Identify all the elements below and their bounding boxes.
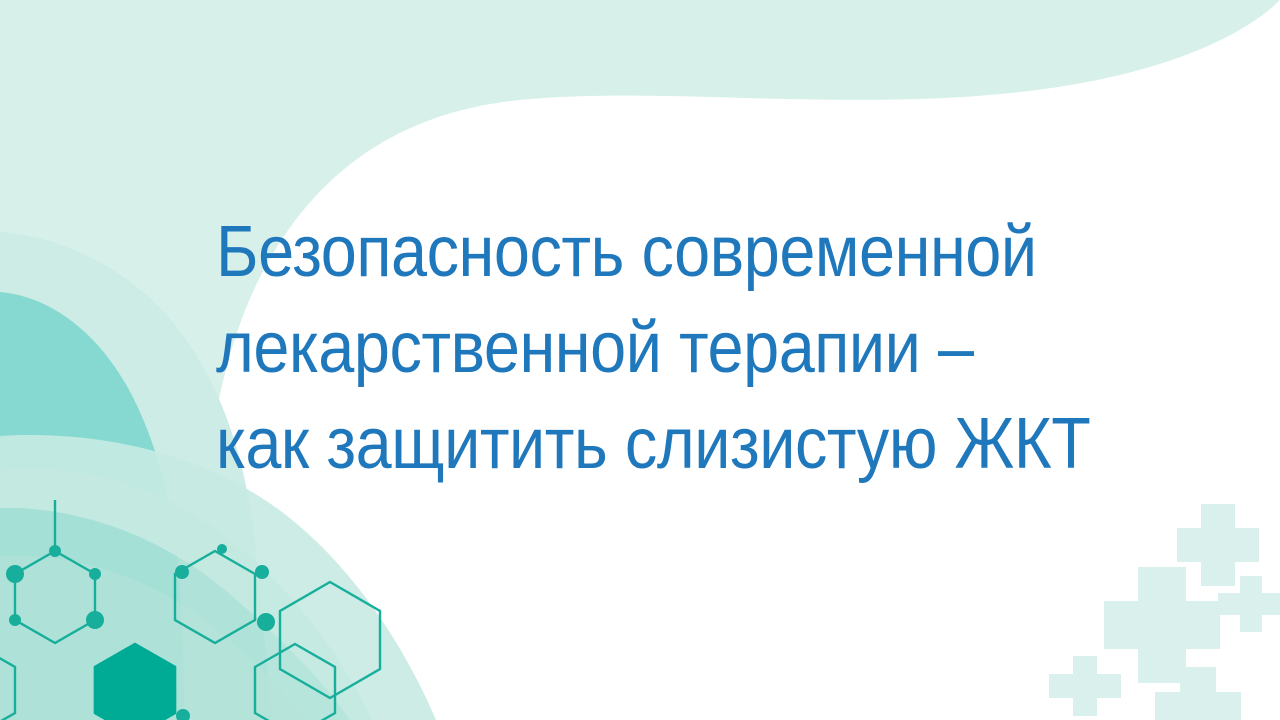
hex-node <box>175 565 189 579</box>
hex-node <box>9 614 21 626</box>
plus-icon <box>1177 504 1259 586</box>
title-line-1: Безопасность современной <box>216 204 1125 300</box>
hex-node <box>217 544 227 554</box>
hex-node <box>255 565 269 579</box>
slide-canvas: Безопасность современной лекарственной т… <box>0 0 1280 720</box>
hex-node <box>257 613 275 631</box>
cross-cluster <box>1049 504 1280 720</box>
hex-node <box>89 568 101 580</box>
title-line-3: как защитить слизистую ЖКТ <box>216 396 1125 492</box>
hex-node <box>86 611 104 629</box>
plus-icon <box>1049 656 1121 716</box>
hex-node <box>49 545 61 557</box>
slide-title: Безопасность современной лекарственной т… <box>216 204 1226 492</box>
title-line-2: лекарственной терапии – <box>216 300 1125 396</box>
hex-node <box>6 565 24 583</box>
